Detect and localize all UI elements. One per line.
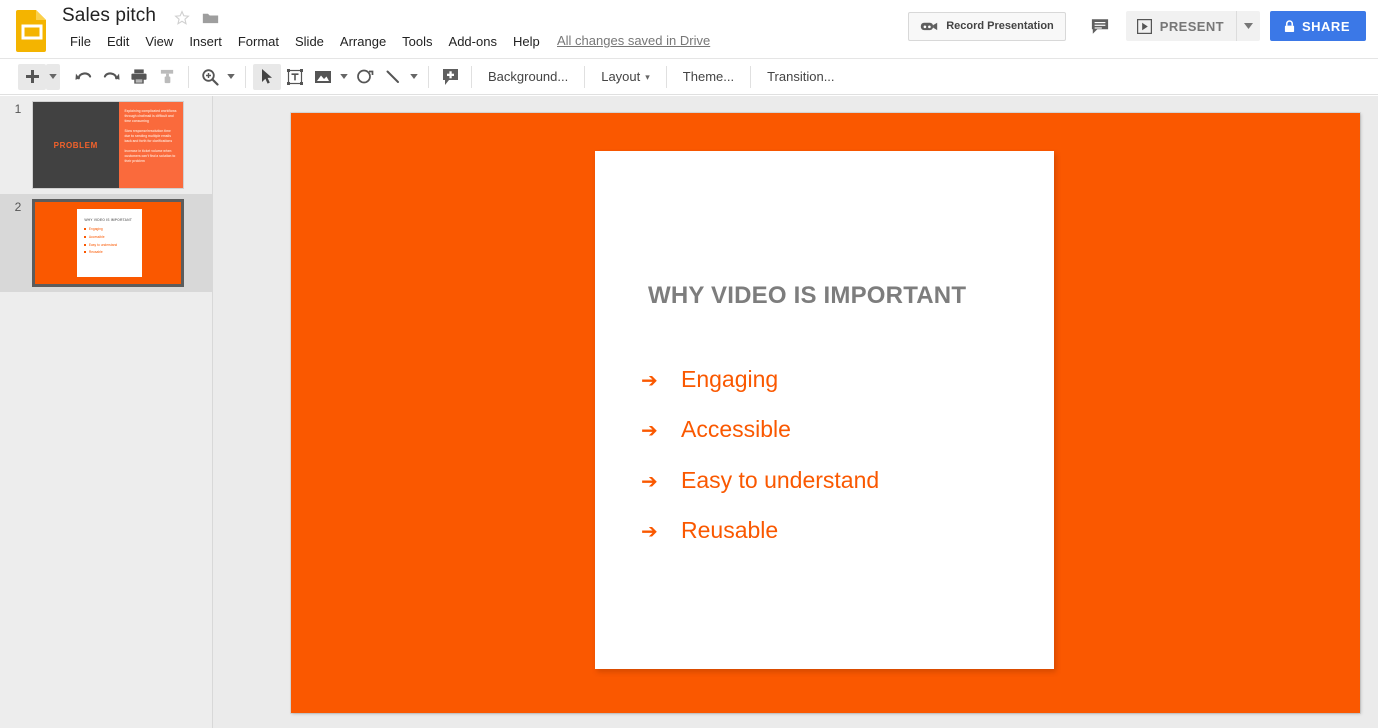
new-slide-icon[interactable] <box>18 64 46 90</box>
menu-bar: File Edit View Insert Format Slide Arran… <box>62 31 548 53</box>
save-status-link[interactable]: All changes saved in Drive <box>557 33 710 48</box>
arrow-bullet-icon: ➔ <box>641 371 661 391</box>
chevron-down-icon <box>410 74 418 79</box>
paint-format-icon[interactable] <box>153 64 181 90</box>
list-item: Reusable <box>84 250 135 254</box>
slide-title-textbox[interactable]: WHY VIDEO IS IMPORTANT <box>648 282 1028 310</box>
theme-button[interactable]: Theme... <box>674 64 743 89</box>
menu-format[interactable]: Format <box>230 31 287 53</box>
toolbar: Background... Layout▾ Theme... Transitio… <box>0 58 1378 95</box>
list-item-label: Reusable <box>89 250 103 254</box>
thumbnail-content: WHY VIDEO IS IMPORTANT Engaging Accessib… <box>35 202 181 284</box>
toolbar-divider <box>584 66 585 88</box>
bullet-label: Engaging <box>681 367 778 392</box>
thumbnail-content: PROBLEM Explaining complicated workflows… <box>33 102 183 188</box>
image-dropdown-caret[interactable] <box>337 64 351 90</box>
new-slide-dropdown-caret[interactable] <box>46 64 60 90</box>
slide-thumbnail[interactable]: WHY VIDEO IS IMPORTANT Engaging Accessib… <box>32 199 184 287</box>
present-dropdown-caret[interactable] <box>1236 11 1260 41</box>
print-icon[interactable] <box>125 64 153 90</box>
filmstrip-slide-1[interactable]: 1 PROBLEM Explaining complicated workflo… <box>0 96 213 194</box>
comments-button[interactable] <box>1080 12 1120 41</box>
redo-icon[interactable] <box>97 64 125 90</box>
bullet-icon <box>84 236 86 238</box>
list-item-label: Accessible <box>89 235 105 239</box>
shape-icon[interactable] <box>351 64 379 90</box>
menu-arrange[interactable]: Arrange <box>332 31 394 53</box>
list-item: Easy to understand <box>84 243 135 247</box>
toolbar-group-insert <box>253 59 421 95</box>
toolbar-divider <box>666 66 667 88</box>
slide-thumbnail[interactable]: PROBLEM Explaining complicated workflows… <box>32 101 184 189</box>
list-item: Engaging <box>84 227 135 231</box>
star-icon[interactable] <box>174 10 190 26</box>
slide-canvas[interactable]: WHY VIDEO IS IMPORTANT ➔ Engaging ➔ Acce… <box>213 96 1378 728</box>
toolbar-group-slide <box>18 59 181 95</box>
present-group: PRESENT <box>1126 11 1260 41</box>
image-icon[interactable] <box>309 64 337 90</box>
present-label: PRESENT <box>1160 19 1224 34</box>
chevron-down-icon <box>340 74 348 79</box>
document-title-block: Sales pitch <box>62 4 156 28</box>
layout-label: Layout <box>601 69 640 84</box>
arrow-bullet-icon: ➔ <box>641 522 661 542</box>
toolbar-divider <box>245 66 246 88</box>
background-button[interactable]: Background... <box>479 64 577 89</box>
share-label: SHARE <box>1302 19 1350 34</box>
bullet-item[interactable]: ➔ Reusable <box>641 518 1041 543</box>
layout-button[interactable]: Layout▾ <box>592 64 659 89</box>
arrow-bullet-icon: ➔ <box>641 421 661 441</box>
slide1-body-panel: Explaining complicated workflows through… <box>119 102 184 188</box>
comment-icon <box>1091 18 1109 35</box>
record-presentation-button[interactable]: Record Presentation <box>908 12 1066 41</box>
slide1-title: PROBLEM <box>54 141 98 150</box>
filmstrip-slide-2[interactable]: 2 WHY VIDEO IS IMPORTANT Engaging Access… <box>0 194 213 292</box>
toolbar-divider <box>188 66 189 88</box>
toolbar-group-comment <box>436 59 464 95</box>
list-item-label: Engaging <box>89 227 103 231</box>
bullet-item[interactable]: ➔ Easy to understand <box>641 468 1041 493</box>
slide2-card: WHY VIDEO IS IMPORTANT Engaging Accessib… <box>77 209 141 276</box>
record-presentation-label: Record Presentation <box>946 20 1054 32</box>
play-icon <box>1137 19 1152 34</box>
menu-help[interactable]: Help <box>505 31 548 53</box>
menu-edit[interactable]: Edit <box>99 31 137 53</box>
arrow-bullet-icon: ➔ <box>641 472 661 492</box>
list-item: Accessible <box>84 235 135 239</box>
toolbar-divider <box>750 66 751 88</box>
current-slide[interactable]: WHY VIDEO IS IMPORTANT ➔ Engaging ➔ Acce… <box>291 113 1360 713</box>
chevron-down-icon <box>1244 23 1253 29</box>
bullet-item[interactable]: ➔ Accessible <box>641 417 1041 442</box>
bullet-icon <box>84 244 86 246</box>
toolbar-group-slide-props: Background... Layout▾ Theme... Transitio… <box>479 59 844 95</box>
bullet-label: Reusable <box>681 518 778 543</box>
slide-number: 1 <box>4 102 32 116</box>
slide2-title: WHY VIDEO IS IMPORTANT <box>84 218 135 222</box>
toolbar-divider <box>471 66 472 88</box>
undo-icon[interactable] <box>69 64 97 90</box>
line-icon[interactable] <box>379 64 407 90</box>
slide-number: 2 <box>4 200 32 214</box>
share-button[interactable]: SHARE <box>1270 11 1366 41</box>
slide1-paragraph: Increase in ticket volume when customers… <box>125 149 178 164</box>
menu-insert[interactable]: Insert <box>181 31 230 53</box>
folder-icon[interactable] <box>202 11 219 25</box>
top-bar: Sales pitch File Edit View Insert Format… <box>0 0 1378 58</box>
slide1-paragraph: Explaining complicated workflows through… <box>125 109 178 124</box>
chevron-down-icon <box>227 74 235 79</box>
title-icon-group <box>174 10 219 26</box>
chevron-down-icon: ▾ <box>645 72 650 83</box>
slide-bullet-list[interactable]: ➔ Engaging ➔ Accessible ➔ Easy to unders… <box>641 367 1041 568</box>
bullet-label: Easy to understand <box>681 468 879 493</box>
bullet-icon <box>84 251 86 253</box>
toolbar-group-zoom <box>196 59 238 95</box>
list-item-label: Easy to understand <box>89 243 117 247</box>
slide1-title-panel: PROBLEM <box>33 102 119 188</box>
chevron-down-icon <box>49 74 57 79</box>
lock-icon <box>1284 20 1295 33</box>
menu-view[interactable]: View <box>137 31 181 53</box>
menu-tools[interactable]: Tools <box>394 31 440 53</box>
line-dropdown-caret[interactable] <box>407 64 421 90</box>
menu-slide[interactable]: Slide <box>287 31 332 53</box>
zoom-dropdown-caret[interactable] <box>224 64 238 90</box>
menu-add-ons[interactable]: Add-ons <box>441 31 505 53</box>
document-title[interactable]: Sales pitch <box>62 4 156 28</box>
transition-button[interactable]: Transition... <box>758 64 843 89</box>
slide-content-card[interactable]: WHY VIDEO IS IMPORTANT ➔ Engaging ➔ Acce… <box>595 151 1054 669</box>
top-bar-actions: Record Presentation P <box>908 11 1366 41</box>
zoom-icon[interactable] <box>196 64 224 90</box>
toolbar-divider <box>428 66 429 88</box>
slide-filmstrip[interactable]: 1 PROBLEM Explaining complicated workflo… <box>0 96 213 728</box>
camera-icon <box>920 19 938 33</box>
add-comment-icon[interactable] <box>436 64 464 90</box>
bullet-icon <box>84 228 86 230</box>
google-slides-logo[interactable] <box>14 8 50 52</box>
text-box-icon[interactable] <box>281 64 309 90</box>
present-button[interactable]: PRESENT <box>1126 11 1236 41</box>
bullet-item[interactable]: ➔ Engaging <box>641 367 1041 392</box>
menu-file[interactable]: File <box>62 31 99 53</box>
slide1-paragraph: Slow response/resolution time due to sen… <box>125 129 178 144</box>
bullet-label: Accessible <box>681 417 791 442</box>
select-cursor-icon[interactable] <box>253 64 281 90</box>
